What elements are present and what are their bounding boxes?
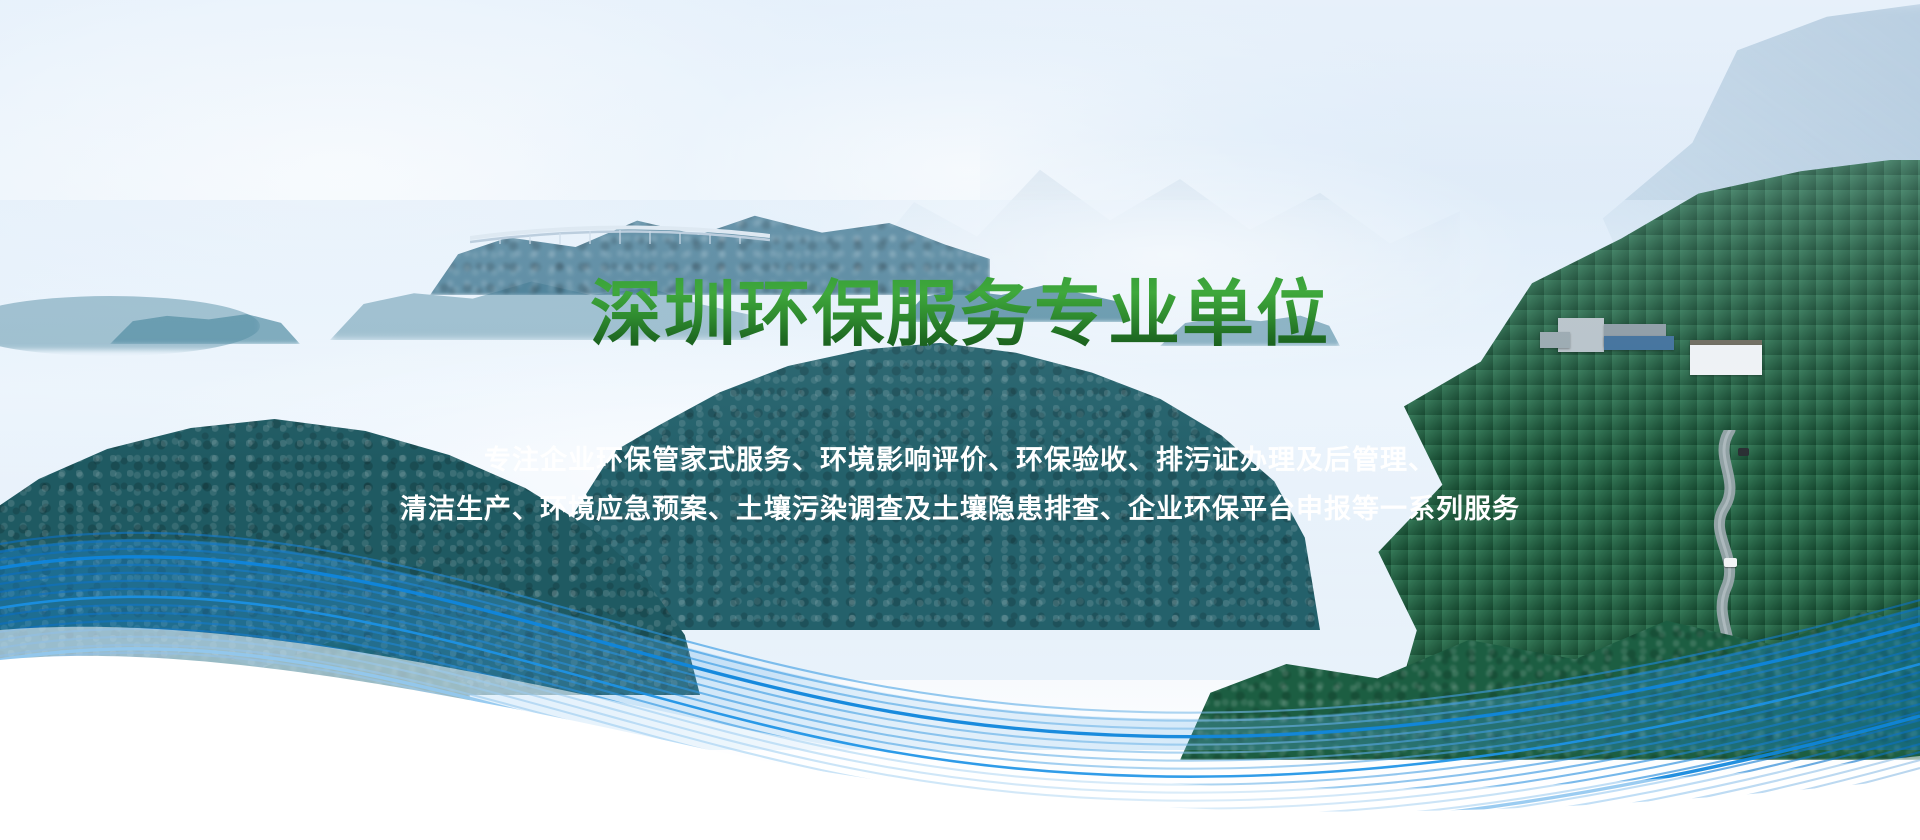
- arch-bridge: [470, 222, 770, 244]
- winding-road: [1690, 430, 1760, 660]
- hero-banner: 深圳环保服务专业单位 深圳环保服务专业单位 专注企业环保管家式服务、环境影响评价…: [0, 0, 1920, 840]
- building-small: [1540, 332, 1570, 348]
- car-white: [1724, 558, 1737, 567]
- building-signboard: [1604, 336, 1674, 350]
- background-photo: [0, 0, 1920, 840]
- building-white-long: [1690, 345, 1762, 375]
- car-dark: [1738, 448, 1749, 456]
